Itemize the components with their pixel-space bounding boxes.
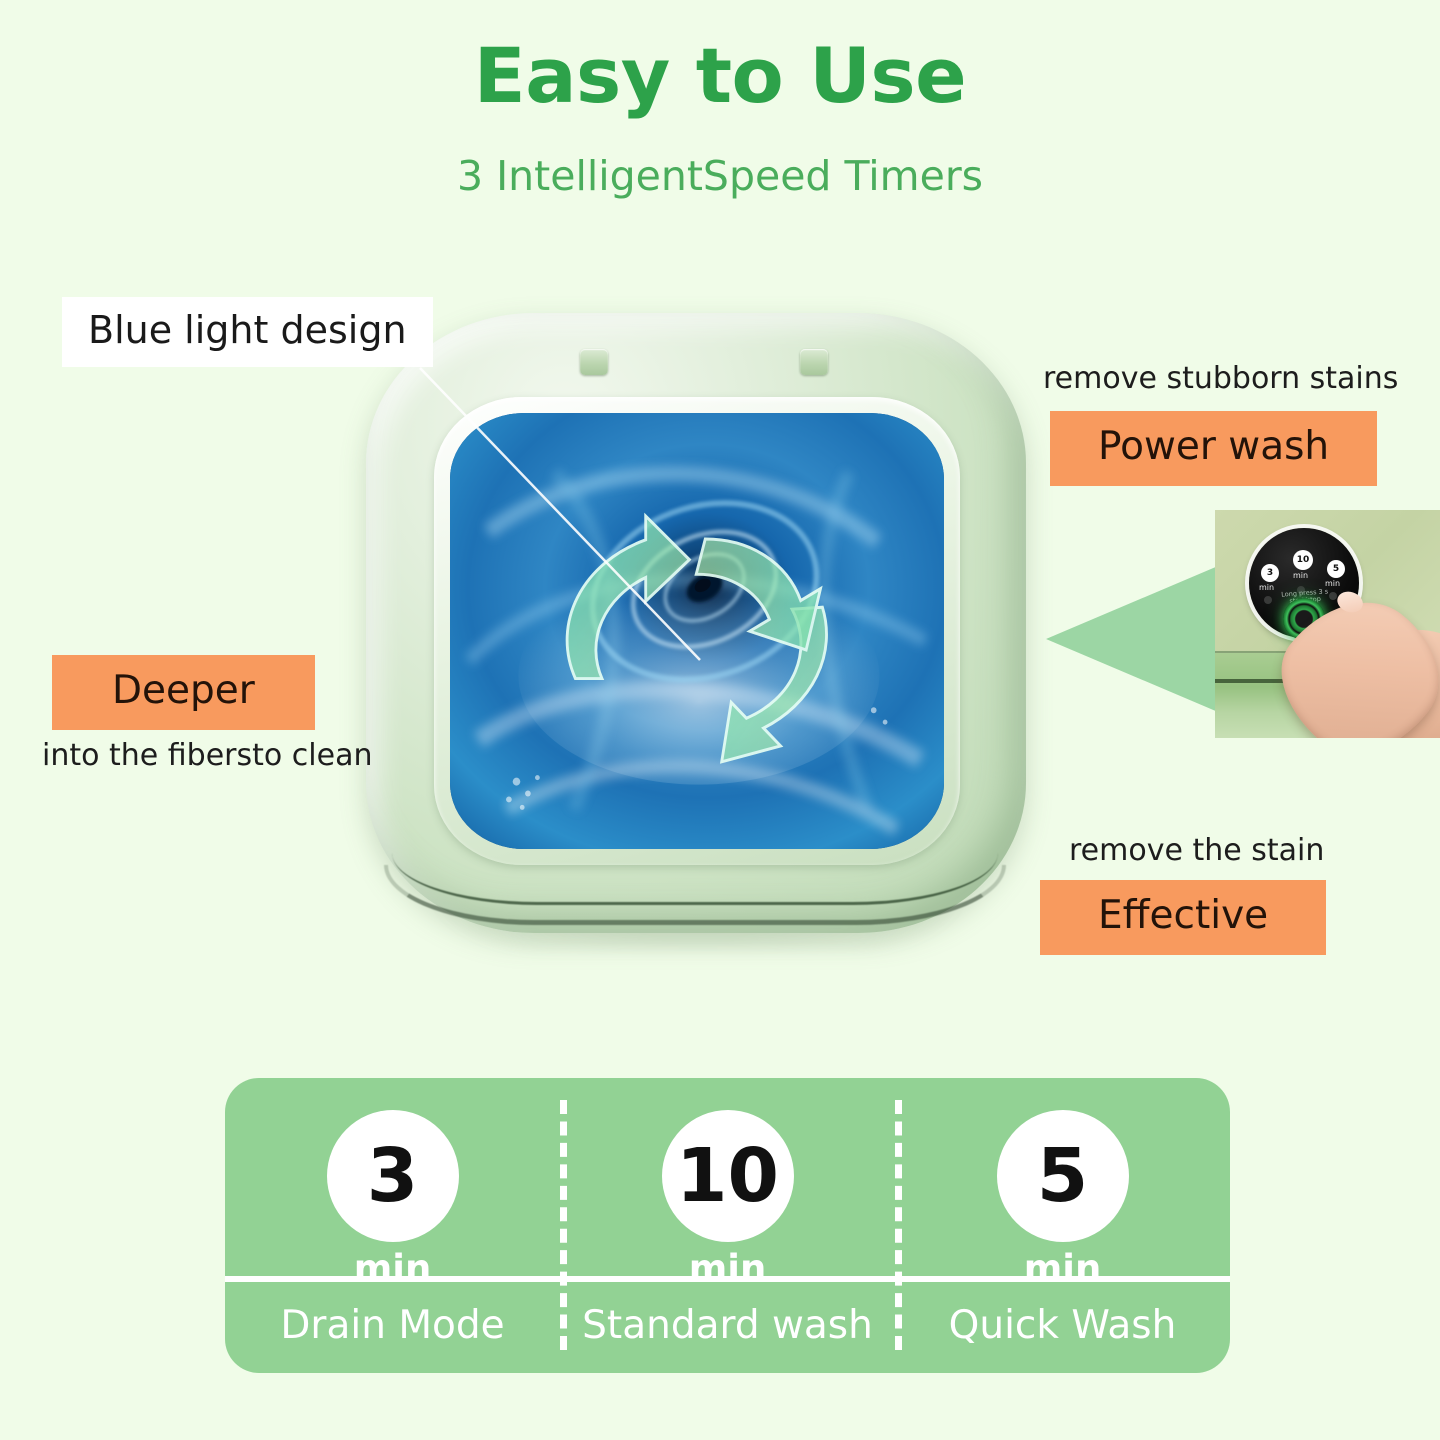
panel-divider-2	[895, 1100, 902, 1350]
timer-modes-panel: 3 min Drain Mode 10 min Standard wash 5 …	[225, 1078, 1230, 1373]
panel-horizontal-rule	[225, 1276, 1230, 1282]
lid-hinge-right	[800, 349, 828, 375]
dial-option-3-unit: min	[1259, 584, 1274, 592]
timer-value-bubble: 3	[327, 1110, 459, 1242]
dial-option-10-icon[interactable]: 10	[1293, 550, 1313, 570]
washing-machine-illustration	[350, 305, 1050, 960]
callout-chip-deeper: Deeper	[52, 655, 315, 730]
timer-cell-quick-wash[interactable]: 5 min Quick Wash	[895, 1078, 1230, 1373]
timer-cell-drain-mode[interactable]: 3 min Drain Mode	[225, 1078, 560, 1373]
dial-option-3-icon[interactable]: 3	[1261, 564, 1279, 582]
page-subtitle: 3 IntelligentSpeed Timers	[0, 152, 1440, 200]
timer-value-bubble: 10	[662, 1110, 794, 1242]
callout-chip-power-wash: Power wash	[1050, 411, 1377, 486]
timer-mode-label: Quick Wash	[949, 1306, 1177, 1345]
control-panel-inset-photo: 3 10 5 min min min Long press 3 s start/…	[1215, 510, 1440, 738]
callout-blue-light-design: Blue light design	[62, 297, 433, 367]
drum-window-rim	[434, 397, 960, 865]
page-title: Easy to Use	[0, 36, 1440, 116]
callout-caption-deeper: into the fibersto clean	[42, 741, 372, 771]
drum-window	[450, 413, 944, 849]
timer-cell-standard-wash[interactable]: 10 min Standard wash	[560, 1078, 895, 1373]
callout-chip-effective: Effective	[1040, 880, 1326, 955]
callout-caption-effective: remove the stain	[1069, 836, 1324, 866]
lid-seam-outer	[384, 865, 1006, 925]
dial-option-5-icon[interactable]: 5	[1327, 560, 1345, 578]
timer-value: 10	[676, 1139, 779, 1213]
water-vortex-graphic	[450, 413, 944, 849]
infographic-page: Easy to Use 3 IntelligentSpeed Timers	[0, 0, 1440, 1440]
timer-mode-label: Drain Mode	[280, 1306, 504, 1345]
lid-hinge-left	[580, 349, 608, 375]
timer-value: 5	[1037, 1139, 1089, 1213]
timer-value: 3	[367, 1139, 419, 1213]
timer-value-bubble: 5	[997, 1110, 1129, 1242]
callout-caption-power-wash: remove stubborn stains	[1043, 364, 1398, 394]
inset-pointer-wedge	[1046, 566, 1218, 712]
dial-option-10-unit: min	[1293, 572, 1308, 580]
timer-mode-label: Standard wash	[582, 1306, 873, 1345]
panel-divider-1	[560, 1100, 567, 1350]
